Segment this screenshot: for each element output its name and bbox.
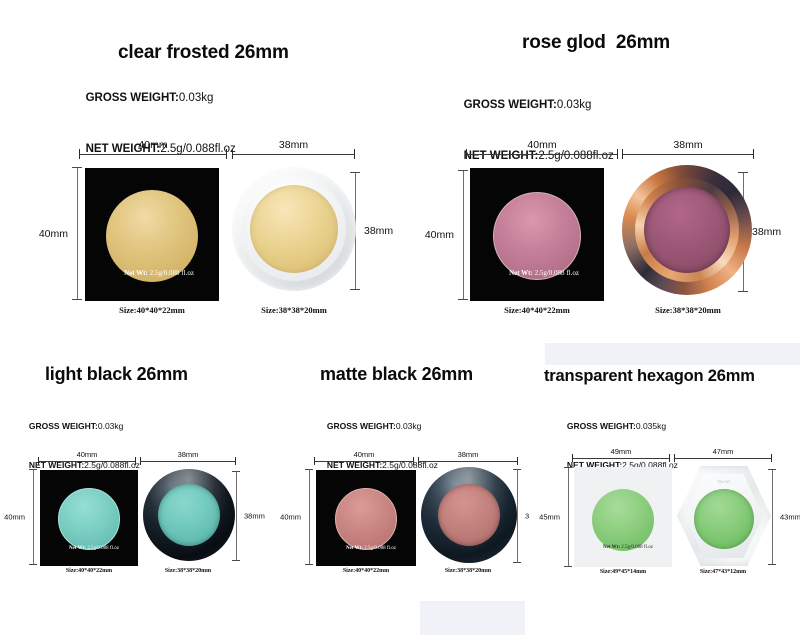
pan-height-label: 40mm [425, 229, 458, 241]
jar-width-label: 38mm [418, 450, 518, 459]
pan-net-weight-stamp: Net Wt: 2.5g/0.088 fl.oz [85, 261, 219, 285]
gross-weight-label: GROSS WEIGHT: [464, 99, 557, 111]
jar-photo [420, 465, 518, 565]
pan-photo: Net Wt: 2.5g/0.088 fl.oz [316, 470, 416, 566]
pan-width-label: 40mm [466, 139, 618, 151]
jar-height-label: 38mm [360, 225, 393, 237]
gross-weight-value: 0.03kg [179, 92, 214, 104]
panel-title: clear frosted 26mm [118, 42, 289, 64]
pan-width-label: 40mm [314, 450, 414, 459]
jar-width-label: 47mm [674, 447, 772, 456]
panel-light-black: light black 26mm GROSS WEIGHT:0.03kg NET… [0, 345, 270, 595]
net-wt-value: 2.5g/0.088 fl.oz [535, 269, 579, 277]
panel-matte-black: matte black 26mm GROSS WEIGHT:0.03kg NET… [270, 345, 540, 595]
pan-net-weight-stamp: Net Wt: 2.5g/0.088 fl.oz [574, 540, 672, 555]
pan-height-label: 40mm [280, 513, 305, 522]
jar-powder [438, 484, 500, 546]
net-wt-prefix: Net Wt: [603, 545, 620, 550]
jar-size-caption: Size:38*38*20mm [232, 305, 356, 315]
net-wt-prefix: Net Wt: [346, 546, 363, 551]
jar-lid-text: Net Wt [717, 479, 730, 484]
pan-width-dimension: 49mm [572, 449, 670, 467]
pan-photo: Net Wt: 2.5g/0.088 fl.oz [40, 470, 138, 566]
jar-width-label: 38mm [232, 139, 355, 151]
panel-rose-gold: rose glod 26mm GROSS WEIGHT:0.03kg NET W… [400, 0, 800, 340]
jar-width-dimension: 38mm [232, 143, 355, 165]
pan-height-dimension: 40mm [458, 170, 468, 300]
jar-height-label: 43mm [776, 513, 800, 522]
jar-powder [250, 185, 338, 273]
pan-height-dimension: 40mm [72, 167, 82, 300]
pan-height-dimension: 45mm [564, 467, 572, 567]
pan-width-label: 40mm [79, 139, 227, 151]
jar-height-label: 3 [521, 512, 529, 521]
panel-clear-frosted: clear frosted 26mm GROSS WEIGHT:0.03kg N… [0, 0, 400, 340]
pan-size-caption: Size:40*40*22mm [316, 568, 416, 574]
jar-powder [694, 489, 754, 549]
pan-net-weight-stamp: Net Wt: 2.5g/0.088 fl.oz [316, 541, 416, 556]
net-wt-value: 2.5g/0.088 fl.oz [87, 546, 119, 551]
jar-size-caption: Size:47*43*12mm [674, 569, 772, 575]
pan-size-caption: Size:40*40*22mm [470, 305, 604, 315]
panel-title: transparent hexagon 26mm [544, 367, 755, 386]
gross-weight-label: GROSS WEIGHT: [327, 421, 396, 431]
jar-photo: Net Wt [676, 465, 772, 567]
net-wt-prefix: Net Wt: [509, 269, 533, 277]
pan-size-caption: Size:40*40*22mm [40, 568, 138, 574]
jar-height-label: 38mm [240, 512, 265, 521]
net-wt-value: 2.5g/0.088 fl.oz [364, 546, 396, 551]
pan-width-dimension: 40mm [466, 143, 618, 165]
panel-title: matte black 26mm [320, 364, 473, 385]
pan-size-caption: Size:49*45*14mm [574, 569, 672, 575]
panel-transparent-hexagon: transparent hexagon 26mm GROSS WEIGHT:0.… [540, 345, 800, 595]
jar-photo [142, 467, 236, 563]
pan-height-label: 40mm [39, 228, 72, 240]
jar-powder [158, 484, 220, 546]
gross-weight-value: 0.035kg [636, 421, 666, 431]
net-wt-prefix: Net Wt: [69, 546, 86, 551]
pan-net-weight-stamp: Net Wt: 2.5g/0.088 fl.oz [470, 261, 604, 285]
pan-width-label: 49mm [572, 447, 670, 456]
pan-photo: Net Wt: 2.5g/0.088 fl.oz [85, 168, 219, 301]
pan-height-label: 45mm [539, 513, 564, 522]
pan-width-label: 40mm [38, 450, 136, 459]
pan-height-dimension: 40mm [305, 469, 313, 565]
panel-title: rose glod 26mm [522, 32, 670, 54]
pan-photo: Net Wt: 2.5g/0.088 fl.oz [470, 168, 604, 301]
pan-net-weight-stamp: Net Wt: 2.5g/0.088 fl.oz [40, 541, 138, 556]
jar-photo [620, 163, 754, 297]
gross-weight-label: GROSS WEIGHT: [29, 421, 98, 431]
pan-height-dimension: 40mm [29, 469, 37, 565]
panel-weights: GROSS WEIGHT:0.03kg NET WEIGHT:2.5g/0.08… [438, 80, 614, 182]
pan-width-dimension: 40mm [79, 143, 227, 165]
pan-height-label: 40mm [4, 513, 29, 522]
jar-size-caption: Size:38*38*20mm [622, 305, 754, 315]
net-wt-value: 2.5g/0.088 fl.oz [150, 269, 194, 277]
gross-weight-label: GROSS WEIGHT: [567, 421, 636, 431]
net-wt-value: 2.5g/0.088 fl.oz [621, 545, 653, 550]
jar-photo [230, 165, 358, 293]
jar-width-label: 38mm [140, 450, 236, 459]
jar-powder [644, 187, 730, 273]
background-band-bottom [420, 601, 525, 635]
jar-width-label: 38mm [622, 139, 754, 151]
pan-size-caption: Size:40*40*22mm [85, 305, 219, 315]
gross-weight-value: 0.03kg [557, 99, 592, 111]
spec-sheet: clear frosted 26mm GROSS WEIGHT:0.03kg N… [0, 0, 800, 635]
pan-width-dimension: 40mm [314, 452, 414, 470]
gross-weight-label: GROSS WEIGHT: [86, 92, 179, 104]
gross-weight-value: 0.03kg [98, 421, 124, 431]
jar-width-dimension: 38mm [622, 143, 754, 165]
panel-title: light black 26mm [45, 364, 188, 385]
jar-size-caption: Size:38*38*20mm [140, 568, 236, 574]
gross-weight-value: 0.03kg [396, 421, 422, 431]
pan-photo: Net Wt: 2.5g/0.088 fl.oz [574, 467, 672, 567]
jar-size-caption: Size:38*38*20mm [418, 568, 518, 574]
pan-width-dimension: 40mm [38, 452, 136, 470]
net-wt-prefix: Net Wt: [124, 269, 148, 277]
